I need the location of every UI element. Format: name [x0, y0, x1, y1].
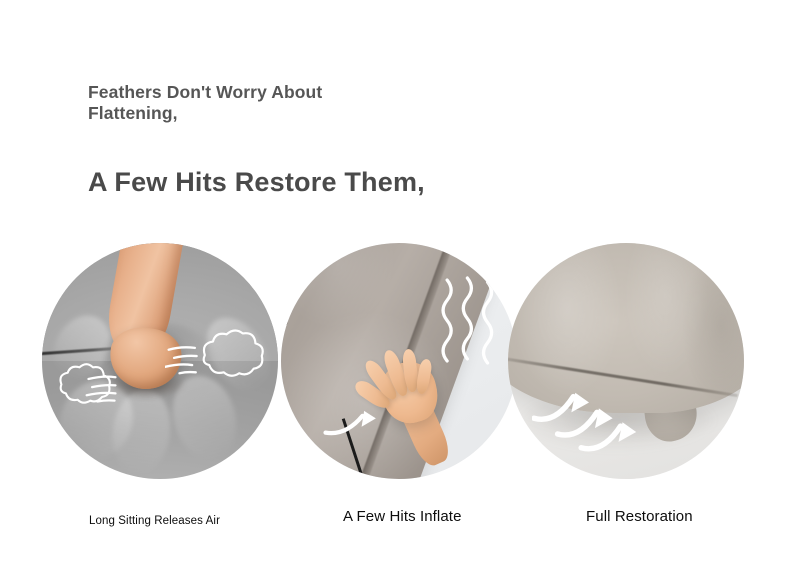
- air-puff-left-icon: [47, 361, 146, 415]
- panel-a-few-hits[interactable]: [281, 243, 517, 479]
- circle-image-a-few-hits: [281, 243, 517, 479]
- circle-image-full-restoration: [508, 243, 744, 479]
- air-puff-right-icon: [165, 328, 274, 388]
- curved-arrow-icon: [323, 389, 399, 444]
- panel-long-sitting[interactable]: [42, 243, 278, 479]
- rising-arrows-icon: [532, 375, 650, 459]
- headline-subtitle: Feathers Don't Worry About Flattening,: [88, 82, 338, 124]
- caption-row: Long Sitting Releases Air A Few Hits Inf…: [0, 505, 790, 545]
- caption-long-sitting: Long Sitting Releases Air: [89, 515, 220, 527]
- caption-a-few-hits: A Few Hits Inflate: [343, 508, 462, 525]
- headline-block: Feathers Don't Worry About Flattening, A…: [88, 82, 508, 198]
- caption-full-restoration: Full Restoration: [586, 508, 693, 525]
- page-title: A Few Hits Restore Them,: [88, 166, 508, 198]
- panel-full-restoration[interactable]: [508, 243, 744, 479]
- motion-waves-icon: [437, 276, 508, 382]
- panel-row: [0, 243, 790, 493]
- circle-image-long-sitting: [42, 243, 278, 479]
